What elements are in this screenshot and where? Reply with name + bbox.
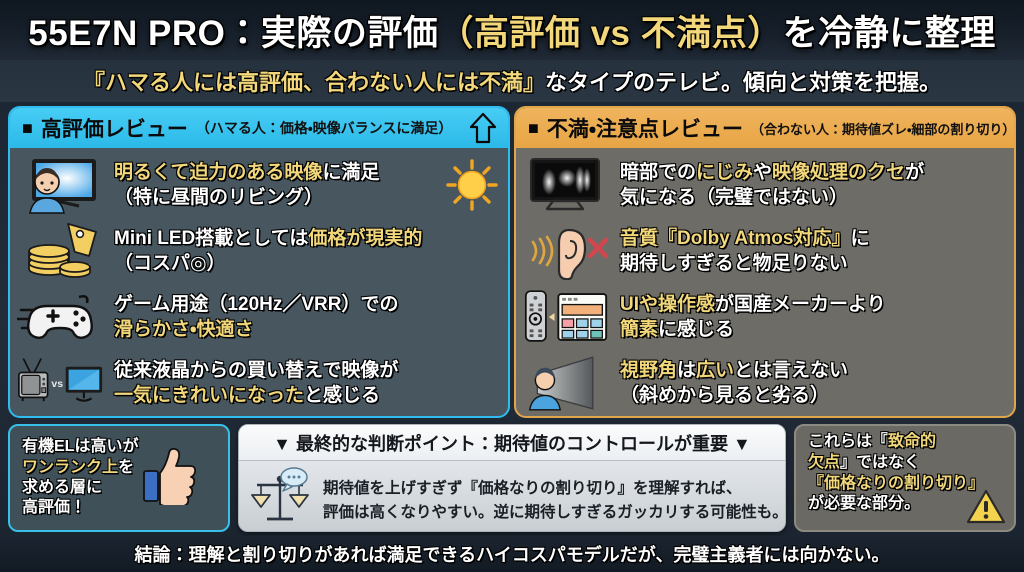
- row-end-spacer: [950, 159, 1006, 211]
- text-span: に感じる: [658, 319, 734, 340]
- text-span: Mini LED搭載としては: [114, 228, 308, 249]
- text-span: 明るくて迫力のある映像: [114, 162, 322, 183]
- row-end-spacer: [950, 357, 1006, 409]
- text-span: 期待しすぎると物足りない: [620, 253, 848, 274]
- bottom-conclusion-heading: ▼ 最終的な判断ポイント：期待値のコントロールが重要 ▼: [239, 425, 785, 461]
- text-span: を冷静に整理: [783, 14, 996, 53]
- sun-icon: [444, 159, 500, 211]
- text-span: 滑らかさ・快適さ: [114, 319, 253, 340]
- bottom-conclusion-panel: ▼ 最終的な判断ポイント：期待値のコントロールが重要 ▼: [238, 424, 786, 532]
- text-span: が: [905, 162, 924, 183]
- panel-pros-header: ■ 高評価レビュー （ハマる人：価格・映像バランスに満足）: [10, 108, 508, 148]
- text-span: （高評価 vs 不満点）: [438, 14, 782, 53]
- bottom-pro-note: 有機ELは高いが ワンランク上を 求める層に 高評価！: [8, 424, 230, 532]
- page-title: 55E7N PRO：実際の評価（高評価 vs 不満点）を冷静に整理: [28, 5, 996, 56]
- cons-row-4-text: 視野角は広いとは言えない （斜めから見ると劣る）: [620, 358, 940, 408]
- text-span: 価格が現実的: [308, 228, 422, 249]
- panel-pros-body: 明るくて迫力のある映像に満足 （特に昼間のリビング）: [10, 148, 508, 416]
- text-span: に: [850, 228, 869, 249]
- text-span: を: [118, 459, 134, 476]
- footer-bar: 結論：理解と割り切りがあれば満足できるハイコスパモデルだが、完璧主義者には向かな…: [0, 536, 1024, 572]
- panel-cons-subtitle: （合わない人：期待値ズレ・細部の割り切り）: [751, 119, 1015, 138]
- text-span: とは言えない: [734, 360, 848, 381]
- bottom-conclusion-body: 期待値を上げすぎず『価格なりの割り切り』を理解すれば、 評価は高くなりやすい。逆…: [239, 461, 785, 532]
- pros-row-2-text: Mini LED搭載としては価格が現実的 （コスパ◎）: [114, 226, 434, 276]
- text-span: は: [677, 360, 696, 381]
- bottom-cons-note: これらは『致命的 欠点』ではなく 『価格なりの割り切り』 が必要な部分。: [794, 424, 1016, 532]
- gamepad-icon: [16, 287, 104, 347]
- cons-row-3-text: UIや操作感が国産メーカーより 簡素に感じる: [620, 292, 940, 342]
- text-span: UIや操作感: [620, 294, 715, 315]
- cons-row-1: 暗部でのにじみや映像処理のクセが 気になる（完璧ではない）: [522, 152, 1006, 218]
- text-span: 簡素: [620, 319, 658, 340]
- text-span: 従来液晶からの買い替えで映像が: [114, 360, 398, 381]
- panel-cons-title: 不満・注意点レビュー: [547, 113, 743, 143]
- old-tv-vs-new-tv-icon: vs: [16, 353, 104, 413]
- panel-cons-marker: ■: [528, 118, 539, 139]
- thumbs-up-icon: [142, 447, 196, 510]
- text-span: 欠点: [808, 454, 840, 471]
- panel-pros-subtitle: （ハマる人：価格・映像バランスに満足）: [196, 118, 458, 138]
- pros-row-3-text: ゲーム用途（120Hz／VRR）での 滑らかさ・快適さ: [114, 292, 434, 342]
- text-span: 広い: [696, 360, 734, 381]
- balance-scale-speech-icon: [249, 467, 313, 532]
- coins-pricetag-icon: [16, 221, 104, 281]
- pros-row-1: 明るくて迫力のある映像に満足 （特に昼間のリビング）: [16, 152, 500, 218]
- bottom-pro-note-text: 有機ELは高いが ワンランク上を 求める層に 高評価！: [22, 437, 138, 518]
- text-span: や: [753, 162, 772, 183]
- text-span: 高評価！: [22, 499, 86, 516]
- row-end-spacer: [444, 357, 500, 409]
- cons-row-3: UIや操作感が国産メーカーより 簡素に感じる: [522, 284, 1006, 350]
- text-span: 暗部での: [620, 162, 696, 183]
- panel-cons-header: ■ 不満・注意点レビュー （合わない人：期待値ズレ・細部の割り切り）: [516, 108, 1014, 148]
- title-bar: 55E7N PRO：実際の評価（高評価 vs 不満点）を冷静に整理: [0, 0, 1024, 60]
- row-end-spacer: [444, 225, 500, 277]
- svg-text:vs: vs: [51, 378, 63, 390]
- text-span: 求める層に: [22, 479, 102, 496]
- text-span: 有機ELは高いが: [22, 438, 138, 455]
- text-span: 55E7N PRO：実際の評価: [28, 14, 438, 53]
- text-span: 気になる（完璧ではない）: [620, 187, 848, 208]
- up-arrow-icon: [466, 111, 500, 145]
- page-subtitle: 『ハマる人には高評価、合わない人には不満』なタイプのテレビ。傾向と対策を把握。: [83, 65, 941, 97]
- pros-row-4-text: 従来液晶からの買い替えで映像が 一気にきれいになったと感じる: [114, 358, 434, 408]
- text-span: 『価格なりの割り切り』: [808, 475, 984, 492]
- pros-row-4: vs 従来液晶からの買い替えで映像が 一気にきれいになったと感じる: [16, 350, 500, 416]
- cons-row-1-text: 暗部でのにじみや映像処理のクセが 気になる（完璧ではない）: [620, 160, 940, 210]
- text-span: （コスパ◎）: [114, 253, 226, 274]
- text-span: 一気にきれいになった: [114, 385, 304, 406]
- text-span: ゲーム用途（120Hz／VRR）での: [114, 294, 398, 315]
- text-span: 視野角: [620, 360, 677, 381]
- viewing-angle-person-icon: [522, 353, 610, 413]
- row-end-spacer: [444, 291, 500, 343]
- text-span: が必要な部分。: [808, 495, 920, 512]
- pros-row-1-text: 明るくて迫力のある映像に満足 （特に昼間のリビング）: [114, 160, 434, 210]
- cons-row-2-text: 音質『Dolby Atmos対応』に 期待しすぎると物足りない: [620, 226, 940, 276]
- cons-row-4: 視野角は広いとは言えない （斜めから見ると劣る）: [522, 350, 1006, 416]
- panel-cons-body: 暗部でのにじみや映像処理のクセが 気になる（完璧ではない）: [516, 148, 1014, 416]
- text-span: にじみ: [696, 162, 753, 183]
- bottom-conclusion-text: 期待値を上げすぎず『価格なりの割り切り』を理解すれば、 評価は高くなりやすい。逆…: [323, 477, 786, 524]
- panel-pros-marker: ■: [22, 118, 33, 139]
- pros-row-3: ゲーム用途（120Hz／VRR）での 滑らかさ・快適さ: [16, 284, 500, 350]
- text-span: これらは『: [808, 433, 888, 450]
- infographic-root: 55E7N PRO：実際の評価（高評価 vs 不満点）を冷静に整理 『ハマる人に…: [0, 0, 1024, 572]
- text-span: 音質『Dolby Atmos対応』: [620, 228, 850, 249]
- text-span: に満足: [322, 162, 379, 183]
- text-span: （特に昼間のリビング）: [114, 187, 323, 208]
- text-span: 『ハマる人には高評価、合わない人には不満』: [83, 70, 545, 95]
- conclusion-line-1: 期待値を上げすぎず『価格なりの割り切り』を理解すれば、: [323, 477, 786, 500]
- ear-sound-x-icon: [522, 221, 610, 281]
- conclusion-line-2: 評価は高くなりやすい。逆に期待しすぎるガッカリする可能性も。: [323, 501, 786, 524]
- text-span: 』ではなく: [840, 454, 920, 471]
- row-end-spacer: [950, 225, 1006, 277]
- panel-pros-title: 高評価レビュー: [41, 113, 188, 143]
- footer-text: 結論：理解と割り切りがあれば満足できるハイコスパモデルだが、完璧主義者には向かな…: [135, 541, 890, 567]
- text-span: 致命的: [888, 433, 936, 450]
- text-span: と感じる: [304, 385, 380, 406]
- warning-triangle-icon: [966, 488, 1006, 526]
- text-span: なタイプのテレビ。傾向と対策を把握。: [545, 70, 941, 95]
- text-span: 映像処理のクセ: [772, 162, 905, 183]
- subtitle-bar: 『ハマる人には高評価、合わない人には不満』なタイプのテレビ。傾向と対策を把握。: [0, 60, 1024, 102]
- panel-high-rating-reviews: ■ 高評価レビュー （ハマる人：価格・映像バランスに満足）: [8, 106, 510, 418]
- dark-tv-blooming-icon: [522, 155, 610, 215]
- pros-row-2: Mini LED搭載としては価格が現実的 （コスパ◎）: [16, 218, 500, 284]
- row-end-spacer: [950, 291, 1006, 343]
- tv-bright-person-icon: [16, 155, 104, 215]
- text-span: （斜めから見ると劣る）: [620, 385, 829, 406]
- panel-complaint-reviews: ■ 不満・注意点レビュー （合わない人：期待値ズレ・細部の割り切り）: [514, 106, 1016, 418]
- text-span: ワンランク上: [22, 459, 118, 476]
- remote-ui-grid-icon: [522, 287, 610, 347]
- text-span: が国産メーカーより: [715, 294, 886, 315]
- cons-row-2: 音質『Dolby Atmos対応』に 期待しすぎると物足りない: [522, 218, 1006, 284]
